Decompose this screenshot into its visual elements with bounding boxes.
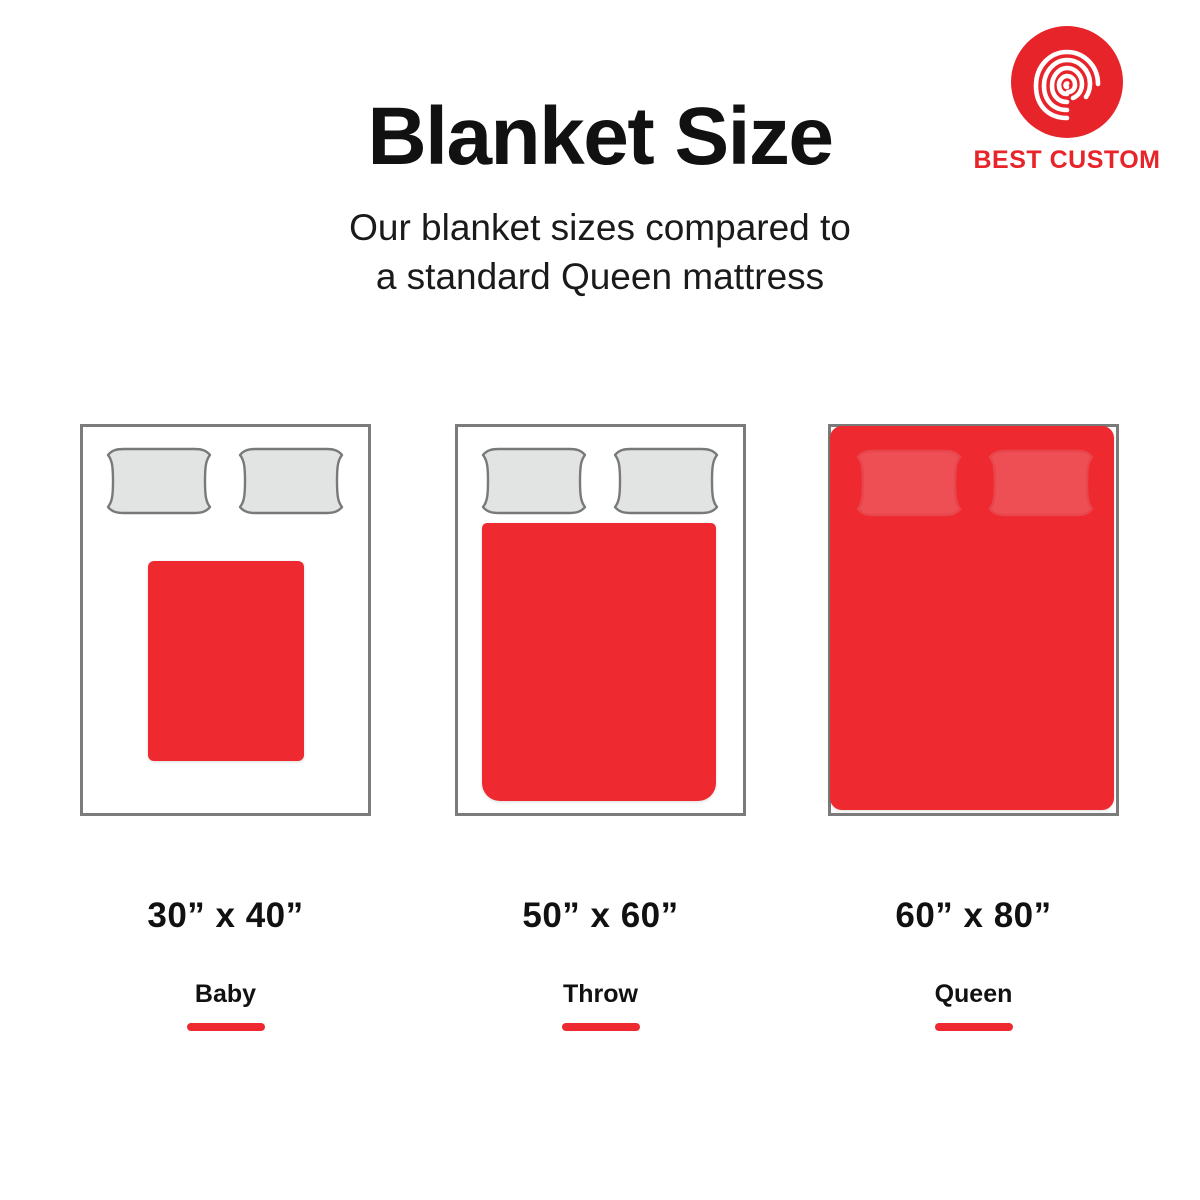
pillow-icon xyxy=(103,446,215,516)
bed-diagram-throw xyxy=(455,424,746,816)
bed-diagram-row xyxy=(0,424,1200,816)
caption-throw: 50” x 60” Throw xyxy=(455,896,746,1031)
accent-underline xyxy=(562,1023,640,1031)
page-subtitle: Our blanket sizes compared to a standard… xyxy=(0,204,1200,302)
blanket-swatch-queen xyxy=(830,426,1114,810)
caption-row: 30” x 40” Baby 50” x 60” Throw 60” x 80”… xyxy=(0,896,1200,1056)
size-name: Throw xyxy=(455,980,746,1009)
size-name: Queen xyxy=(828,980,1119,1009)
size-dimensions: 60” x 80” xyxy=(828,896,1119,936)
page-title: Blanket Size xyxy=(0,96,1200,178)
blanket-swatch-throw xyxy=(482,523,716,801)
pillow-icon xyxy=(853,448,965,518)
caption-queen: 60” x 80” Queen xyxy=(828,896,1119,1031)
caption-baby: 30” x 40” Baby xyxy=(80,896,371,1031)
bed-diagram-queen xyxy=(828,424,1119,816)
bed-diagram-baby xyxy=(80,424,371,816)
size-name: Baby xyxy=(80,980,371,1009)
pillow-icon xyxy=(478,446,590,516)
pillow-icon xyxy=(985,448,1097,518)
subtitle-line-1: Our blanket sizes compared to xyxy=(0,204,1200,253)
size-dimensions: 50” x 60” xyxy=(455,896,746,936)
accent-underline xyxy=(935,1023,1013,1031)
accent-underline xyxy=(187,1023,265,1031)
size-dimensions: 30” x 40” xyxy=(80,896,371,936)
pillow-icon xyxy=(235,446,347,516)
subtitle-line-2: a standard Queen mattress xyxy=(0,253,1200,302)
blanket-swatch-baby xyxy=(148,561,304,761)
pillow-icon xyxy=(610,446,722,516)
header: Blanket Size Our blanket sizes compared … xyxy=(0,96,1200,302)
